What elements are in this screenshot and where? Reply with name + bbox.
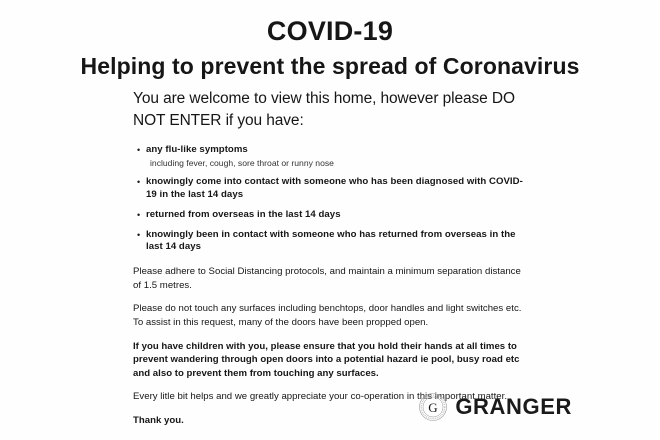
- list-item: • any flu-like symptoms including fever,…: [137, 144, 528, 169]
- page-subtitle: Helping to prevent the spread of Coronav…: [0, 53, 660, 81]
- surfaces-paragraph: Please do not touch any surfaces includi…: [133, 302, 528, 329]
- bullet-dot-icon: •: [137, 176, 140, 189]
- covid-notice-poster: COVID-19 Helping to prevent the spread o…: [0, 0, 660, 440]
- list-item-label: knowingly been in contact with someone w…: [146, 229, 528, 255]
- list-item-note: including fever, cough, sore throat or r…: [146, 158, 528, 170]
- list-item-label: returned from overseas in the last 14 da…: [146, 209, 528, 222]
- list-item-label: any flu-like symptoms: [146, 144, 528, 157]
- children-paragraph: If you have children with you, please en…: [133, 340, 528, 381]
- svg-text:G: G: [429, 400, 438, 415]
- list-item: • knowingly been in contact with someone…: [137, 229, 528, 255]
- bullet-dot-icon: •: [137, 229, 140, 242]
- granger-monogram-icon: G: [418, 392, 448, 422]
- poster-heading: COVID-19 Helping to prevent the spread o…: [0, 0, 660, 81]
- list-item: • returned from overseas in the last 14 …: [137, 209, 528, 222]
- bullet-dot-icon: •: [137, 144, 140, 157]
- poster-content: You are welcome to view this home, howev…: [133, 88, 528, 428]
- intro-text: You are welcome to view this home, howev…: [133, 88, 528, 132]
- granger-logo: G GRANGER: [418, 392, 572, 422]
- bullet-dot-icon: •: [137, 209, 140, 222]
- exclusion-criteria-list: • any flu-like symptoms including fever,…: [133, 144, 528, 254]
- page-title: COVID-19: [0, 16, 660, 47]
- granger-wordmark: GRANGER: [455, 396, 572, 418]
- list-item-label: knowingly come into contact with someone…: [146, 176, 528, 202]
- social-distancing-paragraph: Please adhere to Social Distancing proto…: [133, 265, 528, 292]
- list-item: • knowingly come into contact with someo…: [137, 176, 528, 202]
